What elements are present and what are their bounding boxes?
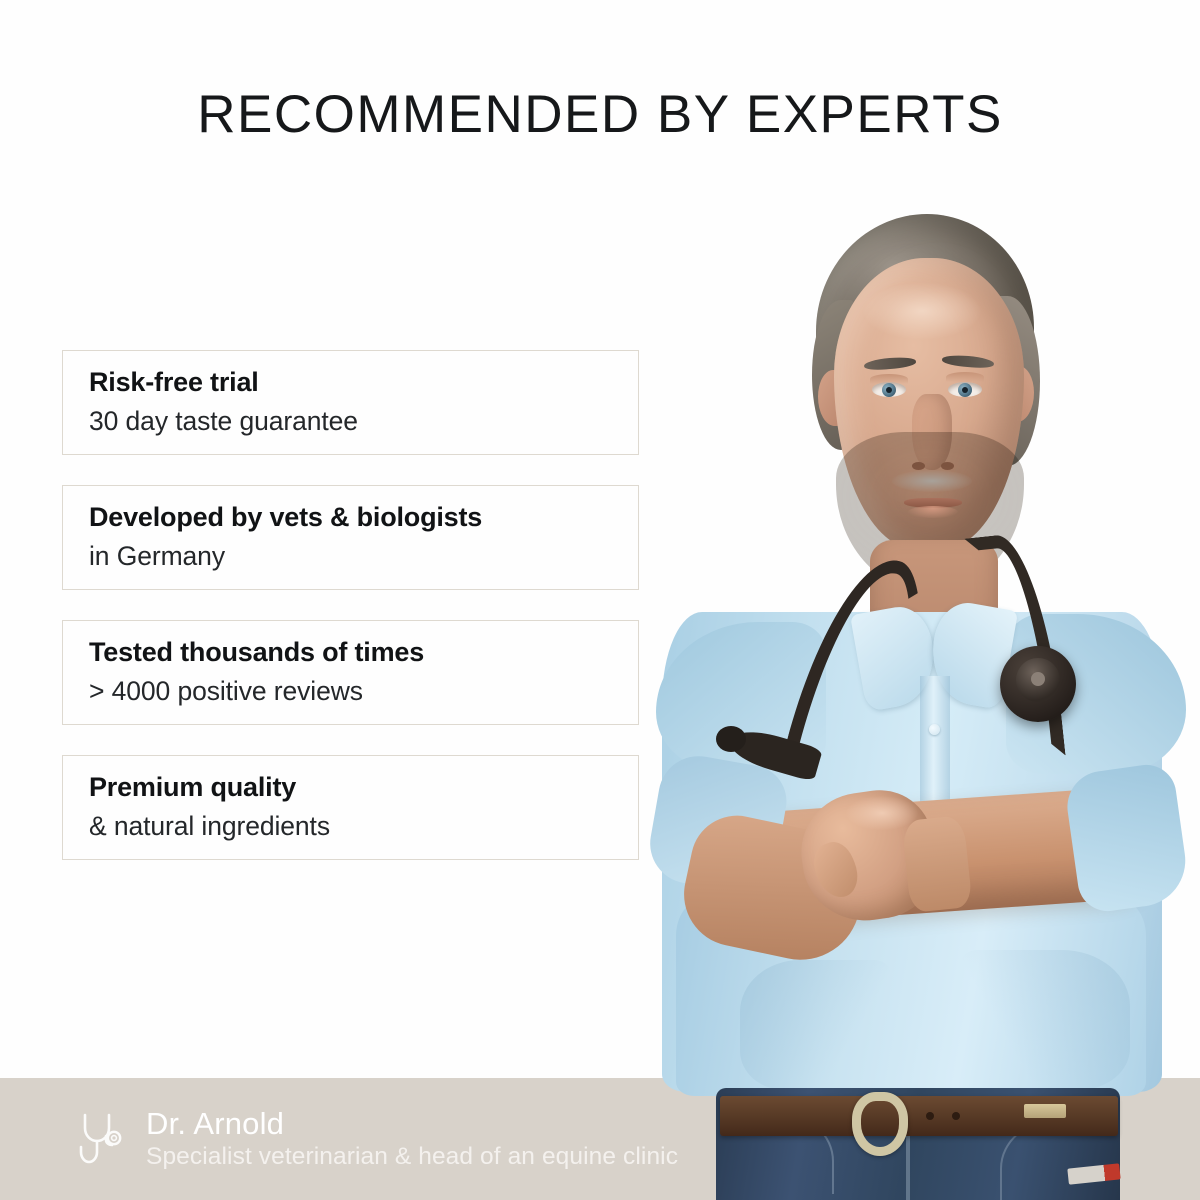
knuckles-highlight (846, 796, 918, 830)
lower-lip (908, 506, 958, 518)
feature-subtitle: 30 day taste guarantee (89, 404, 638, 438)
belt-buckle (852, 1092, 908, 1156)
feature-title: Tested thousands of times (89, 635, 638, 670)
jeans-fly-seam (906, 1132, 910, 1200)
promo-graphic: RECOMMENDED BY EXPERTS Risk-free trial 3… (0, 0, 1200, 1200)
feature-box-developed-by-vets: Developed by vets & biologists in German… (62, 485, 639, 590)
forehead-highlight (862, 282, 982, 340)
right-pupil (962, 387, 968, 393)
feature-subtitle: in Germany (89, 539, 638, 573)
feature-subtitle: & natural ingredients (89, 809, 638, 843)
belt-hole (952, 1112, 960, 1120)
mustache (892, 470, 972, 492)
feature-box-risk-free-trial: Risk-free trial 30 day taste guarantee (62, 350, 639, 455)
right-rolled-sleeve (1063, 761, 1191, 915)
feature-list: Risk-free trial 30 day taste guarantee D… (62, 350, 639, 890)
right-eyelid (946, 372, 984, 382)
feature-title: Premium quality (89, 770, 638, 805)
left-eyelid (870, 374, 908, 384)
stethoscope-chestpiece-center (1031, 672, 1045, 686)
shirt-fold (740, 960, 890, 1090)
belt-metal-tag (1024, 1104, 1066, 1118)
shirt-fold (960, 950, 1130, 1090)
feature-box-tested-thousands: Tested thousands of times > 4000 positiv… (62, 620, 639, 725)
left-pupil (886, 387, 892, 393)
feature-title: Developed by vets & biologists (89, 500, 638, 535)
shirt-button (929, 724, 940, 735)
feature-title: Risk-free trial (89, 365, 638, 400)
stethoscope-eartip (716, 726, 746, 752)
belt-hole (926, 1112, 934, 1120)
veterinarian-photo (620, 0, 1200, 1200)
wrist (901, 815, 972, 913)
feature-subtitle: > 4000 positive reviews (89, 674, 638, 708)
feature-box-premium-quality: Premium quality & natural ingredients (62, 755, 639, 860)
